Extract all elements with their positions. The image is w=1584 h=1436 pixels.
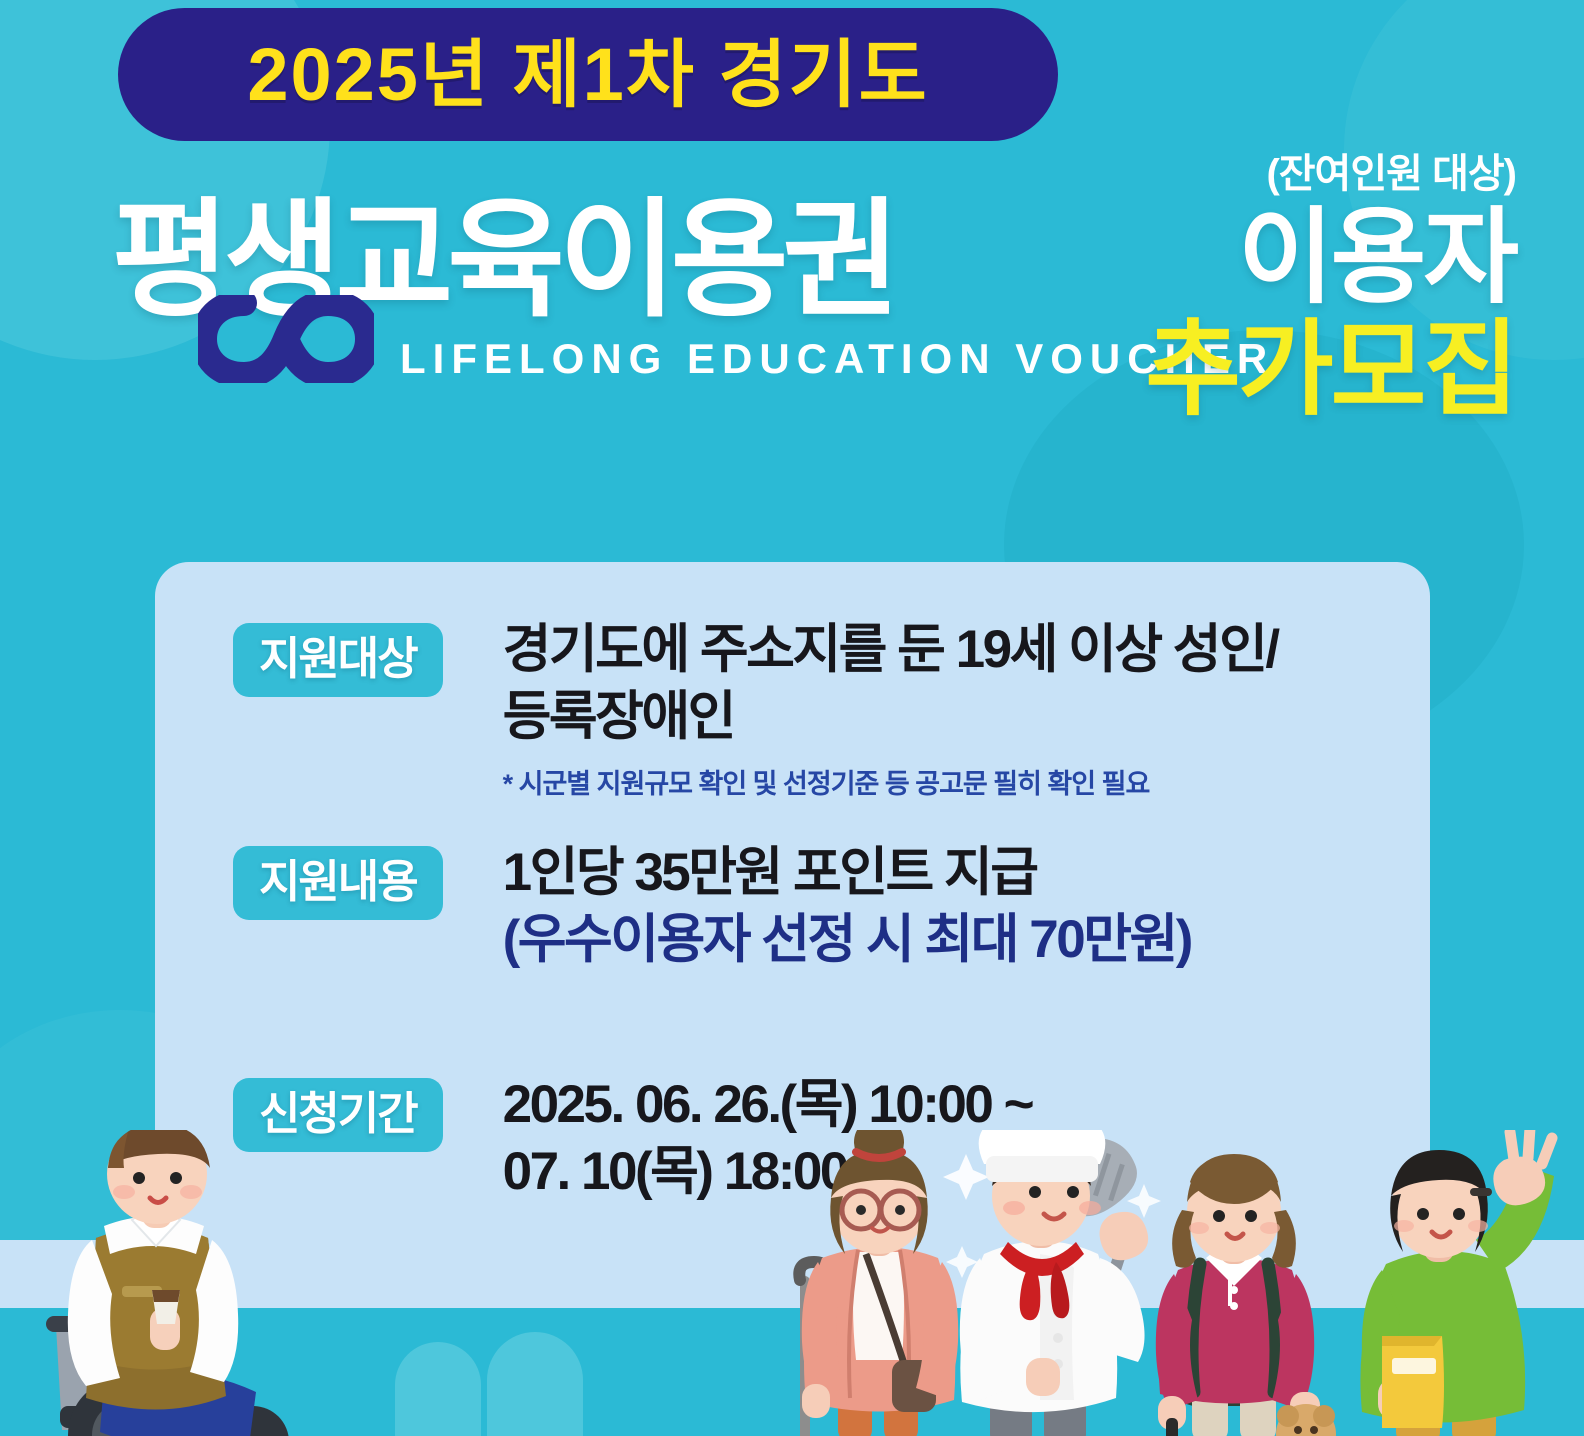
row-body-line: (우수이용자 선정 시 최대 70만원) [503, 907, 1191, 974]
row-label-badge: 지원내용 [233, 846, 443, 920]
row-body: 2025. 06. 26.(목) 10:00 ~ 07. 10(목) 18:00 [503, 1072, 1032, 1206]
logo-english-subtitle: LIFELONG EDUCATION VOUCHER [400, 335, 1274, 383]
info-card: 지원대상 경기도에 주소지를 둔 19세 이상 성인/ 등록장애인 * 시군별 … [155, 562, 1430, 1307]
poster-canvas: 2025년 제1차 경기도 평생교육이용권 LIFELONG EDUCATION… [0, 0, 1584, 1436]
row-body: 1인당 35만원 포인트 지급 (우수이용자 선정 시 최대 70만원) [503, 840, 1191, 974]
logo-sub-row: LIFELONG EDUCATION VOUCHER [112, 313, 1092, 391]
row-body: 경기도에 주소지를 둔 19세 이상 성인/ 등록장애인 * 시군별 지원규모 … [503, 617, 1278, 802]
info-row-support-content: 지원내용 1인당 35만원 포인트 지급 (우수이용자 선정 시 최대 70만원… [233, 840, 1191, 974]
row-label-badge: 지원대상 [233, 623, 443, 697]
row-body-line: 07. 10(목) 18:00 [503, 1139, 1032, 1206]
recruitment-headline: (잔여인원 대상) 이용자 추가모집 [1145, 152, 1516, 429]
info-row-application-period: 신청기간 2025. 06. 26.(목) 10:00 ~ 07. 10(목) … [233, 1072, 1032, 1206]
headline-kicker: (잔여인원 대상) [1145, 152, 1516, 196]
row-body-line: 1인당 35만원 포인트 지급 [503, 840, 1191, 907]
row-label-badge: 신청기간 [233, 1078, 443, 1152]
voucher-logo: 평생교육이용권 LIFELONG EDUCATION VOUCHER [112, 196, 1092, 391]
ground-bush-left [395, 1342, 481, 1436]
row-body-line: 등록장애인 [503, 684, 1278, 751]
header-title-text: 2025년 제1차 경기도 [247, 38, 928, 112]
headline-main: 이용자 [1145, 200, 1516, 316]
headline-accent: 추가모집 [1145, 312, 1516, 428]
info-row-support-target: 지원대상 경기도에 주소지를 둔 19세 이상 성인/ 등록장애인 * 시군별 … [233, 617, 1278, 802]
row-body-line: 경기도에 주소지를 둔 19세 이상 성인/ [503, 617, 1278, 684]
ground-bush-right [487, 1332, 583, 1436]
infinity-icon [198, 295, 374, 383]
row-note: * 시군별 지원규모 확인 및 선정기준 등 공고문 필히 확인 필요 [503, 767, 1278, 802]
row-body-line: 2025. 06. 26.(목) 10:00 ~ [503, 1072, 1032, 1139]
header-title-pill: 2025년 제1차 경기도 [118, 8, 1058, 141]
